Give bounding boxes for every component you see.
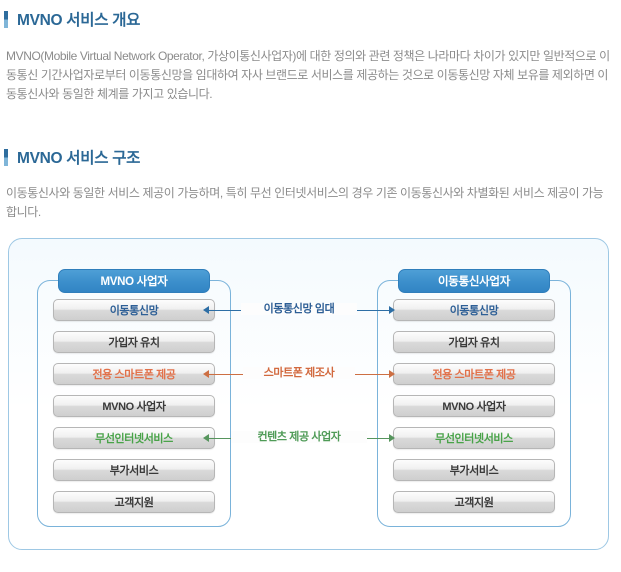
list-item[interactable]: 무선인터넷서비스 [53,427,215,449]
list-item[interactable]: 무선인터넷서비스 [393,427,555,449]
list-item[interactable]: 이동통신망 [53,299,215,321]
list-item[interactable]: 전용 스마트폰 제공 [53,363,215,385]
list-item[interactable]: 전용 스마트폰 제공 [393,363,555,385]
connector-label: 이동통신망 임대 [241,303,357,315]
page-title: MVNO 서비스 개요 [17,8,140,30]
arrow-right-icon [389,434,395,442]
heading-marker-icon [4,149,8,166]
section-title: MVNO 서비스 구조 [17,146,140,168]
arrow-right-icon [389,370,395,378]
connector-label: 컨텐츠 제공 사업자 [231,431,367,443]
list-item[interactable]: 고객지원 [53,491,215,513]
list-item[interactable]: MVNO 사업자 [53,395,215,417]
column-items-mno: 이동통신망 가입자 유치 전용 스마트폰 제공 MVNO 사업자 무선인터넷서비… [393,299,555,513]
column-header-mno: 이동통신사업자 [398,269,550,293]
arrow-left-icon [203,434,209,442]
heading-marker-icon [4,11,8,28]
structure-section: MVNO 서비스 구조 이동통신사와 동일한 서비스 제공이 가능하며, 특히 … [0,146,621,222]
column-mvno: MVNO 사업자 이동통신망 가입자 유치 전용 스마트폰 제공 MVNO 사업… [37,269,231,527]
column-mno: 이동통신사업자 이동통신망 가입자 유치 전용 스마트폰 제공 MVNO 사업자… [377,269,571,527]
list-item[interactable]: 가입자 유치 [393,331,555,353]
structure-paragraph: 이동통신사와 동일한 서비스 제공이 가능하며, 특히 무선 인터넷서비스의 경… [6,184,606,222]
structure-heading: MVNO 서비스 구조 [0,146,621,168]
service-structure-diagram: MVNO 사업자 이동통신망 가입자 유치 전용 스마트폰 제공 MVNO 사업… [8,238,609,550]
list-item[interactable]: 고객지원 [393,491,555,513]
list-item[interactable]: MVNO 사업자 [393,395,555,417]
column-items-mvno: 이동통신망 가입자 유치 전용 스마트폰 제공 MVNO 사업자 무선인터넷서비… [53,299,215,513]
list-item[interactable]: 부가서비스 [53,459,215,481]
list-item[interactable]: 이동통신망 [393,299,555,321]
arrow-right-icon [389,306,395,314]
list-item[interactable]: 가입자 유치 [53,331,215,353]
list-item[interactable]: 부가서비스 [393,459,555,481]
overview-heading: MVNO 서비스 개요 [0,8,621,30]
overview-section: MVNO 서비스 개요 MVNO(Mobile Virtual Network … [0,8,621,104]
arrow-left-icon [203,370,209,378]
connector-label: 스마트폰 제조사 [243,367,355,379]
overview-paragraph: MVNO(Mobile Virtual Network Operator, 가상… [6,47,614,104]
column-header-mvno: MVNO 사업자 [58,269,210,293]
arrow-left-icon [203,306,209,314]
